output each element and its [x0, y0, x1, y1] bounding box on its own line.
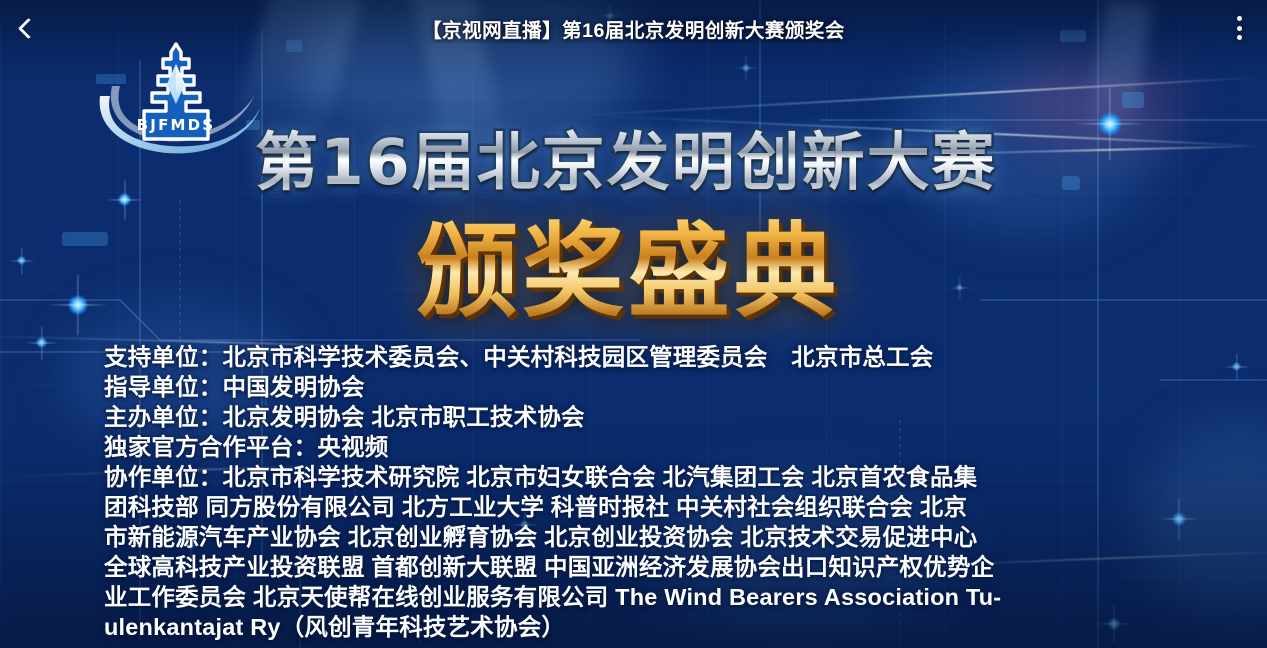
credits-line: 支持单位：北京市科学技术委员会、中关村科技园区管理委员会 北京市总工会: [104, 342, 1174, 372]
chevron-left-icon: [17, 17, 38, 38]
more-vertical-icon-dot-3: [1237, 35, 1242, 40]
bjfmds-logo: BJFMDS: [88, 38, 268, 160]
credits-line: 市新能源汽车产业协会 北京创业孵育协会 北京创业投资协会 北京技术交易促进中心: [104, 522, 1174, 552]
credits-block: 支持单位：北京市科学技术委员会、中关村科技园区管理委员会 北京市总工会指导单位：…: [104, 342, 1174, 642]
credits-line: 全球高科技产业投资联盟 首都创新大联盟 中国亚洲经济发展协会出口知识产权优势企: [104, 552, 1174, 582]
credits-line: ulenkantajat Ry（风创青年科技艺术协会）: [104, 612, 1174, 642]
credits-line: 团科技部 同方股份有限公司 北方工业大学 科普时报社 中关村社会组织联合会 北京: [104, 492, 1174, 522]
back-button[interactable]: [0, 0, 56, 56]
page-title: 【京视网直播】第16届北京发明创新大赛颁奖会: [56, 14, 1211, 43]
credits-line: 独家官方合作平台：央视频: [104, 432, 1174, 462]
more-vertical-icon-dot-1: [1237, 16, 1242, 21]
logo-caption: BJFMDS: [137, 116, 216, 134]
more-options-button[interactable]: [1211, 0, 1267, 56]
credits-line: 协作单位：北京市科学技术研究院 北京市妇女联合会 北汽集团工会 北京首农食品集: [104, 462, 1174, 492]
player-header-bar: 【京视网直播】第16届北京发明创新大赛颁奖会: [0, 0, 1267, 56]
pagoda-shape: BJFMDS: [137, 44, 216, 139]
main-title-gold: 颁奖盛典: [416, 190, 840, 337]
credits-line: 业工作委员会 北京天使帮在线创业服务有限公司 The Wind Bearers …: [104, 582, 1174, 612]
more-vertical-icon-dot-2: [1237, 26, 1242, 31]
credits-line: 主办单位：北京发明协会 北京市职工技术协会: [104, 402, 1174, 432]
credits-line: 指导单位：中国发明协会: [104, 372, 1174, 402]
live-stream-poster: 【京视网直播】第16届北京发明创新大赛颁奖会: [0, 0, 1267, 648]
